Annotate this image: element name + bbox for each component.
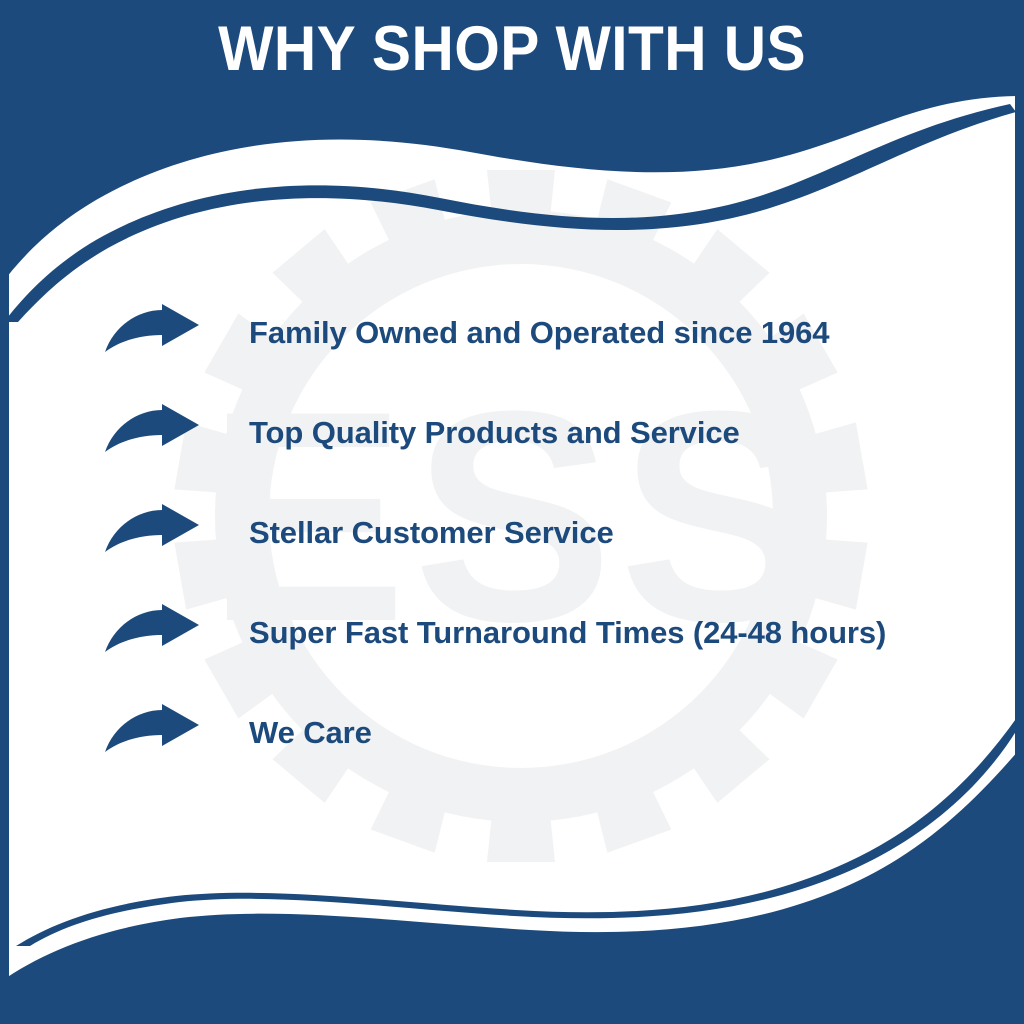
- curved-arrow-right-icon: [104, 704, 200, 762]
- header-band: WHY SHOP WITH US: [0, 0, 1024, 104]
- benefit-label: We Care: [249, 716, 372, 750]
- benefit-item: Stellar Customer Service: [0, 483, 1024, 583]
- benefit-item: Top Quality Products and Service: [0, 383, 1024, 483]
- benefit-label: Super Fast Turnaround Times (24-48 hours…: [249, 616, 886, 650]
- benefit-item: Family Owned and Operated since 1964: [0, 283, 1024, 383]
- benefit-label: Top Quality Products and Service: [249, 416, 740, 450]
- benefit-item: We Care: [0, 683, 1024, 783]
- curved-arrow-right-icon: [104, 304, 200, 362]
- curved-arrow-right-icon: [104, 404, 200, 462]
- curved-arrow-right-icon: [104, 604, 200, 662]
- page-title: WHY SHOP WITH US: [218, 18, 806, 81]
- curved-arrow-right-icon: [104, 504, 200, 562]
- benefit-list: Family Owned and Operated since 1964 Top…: [0, 283, 1024, 783]
- footer-wave-band: [0, 744, 1024, 1024]
- benefit-item: Super Fast Turnaround Times (24-48 hours…: [0, 583, 1024, 683]
- why-shop-with-us-graphic: ESS WHY SHOP WITH US Family: [0, 0, 1024, 1024]
- benefit-label: Stellar Customer Service: [249, 516, 614, 550]
- benefit-label: Family Owned and Operated since 1964: [249, 316, 829, 350]
